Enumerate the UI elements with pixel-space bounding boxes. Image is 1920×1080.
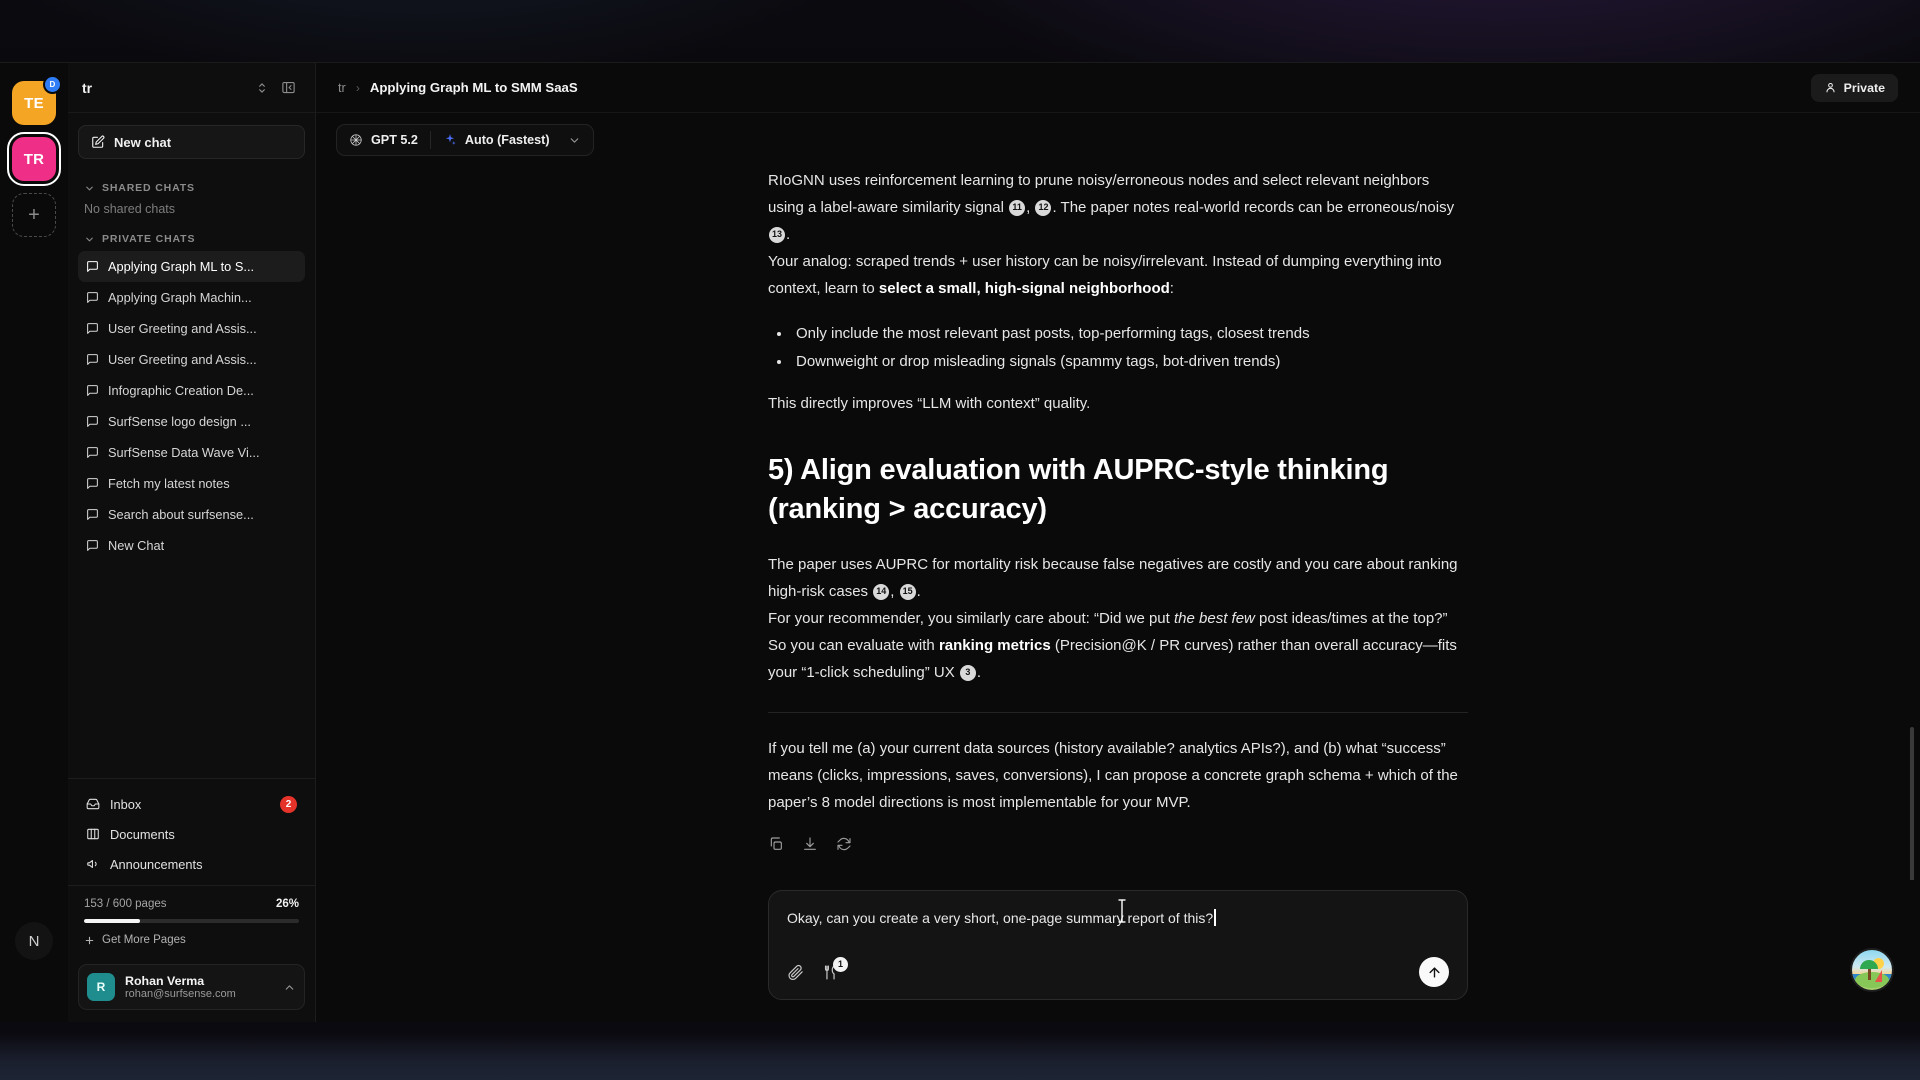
chat-bubble-icon (86, 539, 99, 552)
sidebar-item-announcements[interactable]: Announcements (78, 849, 305, 879)
breadcrumb-separator-icon: › (356, 81, 360, 95)
chat-list-item[interactable]: Search about surfsense... (78, 499, 305, 530)
citation-chip[interactable]: 11 (1009, 200, 1025, 216)
paragraph-seg-italic: the best few (1174, 610, 1255, 627)
paragraph-seg: : (1170, 280, 1174, 297)
chat-bubble-icon (86, 291, 99, 304)
sidebar-item-label: Inbox (110, 797, 141, 812)
sidebar-item-label: Documents (110, 827, 175, 842)
sidebar: tr New chat (68, 63, 316, 1022)
workspace-avatar-initials: TR (24, 151, 45, 168)
divider (768, 712, 1468, 713)
paragraph-seg: . (977, 664, 981, 681)
composer-input[interactable]: Okay, can you create a very short, one-p… (787, 907, 1216, 929)
chat-list-item[interactable]: User Greeting and Assis... (78, 313, 305, 344)
chat-bubble-icon (86, 384, 99, 397)
chat-list-item-label: Fetch my latest notes (108, 476, 230, 491)
get-more-pages-label: Get More Pages (102, 934, 186, 946)
paragraph-seg: For your recommender, you similarly care… (768, 610, 1174, 627)
model-logo-icon (349, 133, 363, 147)
usage-progress-track (84, 919, 299, 923)
citation-chip[interactable]: 12 (1035, 200, 1051, 216)
avatar-island (1855, 972, 1889, 988)
new-chat-button[interactable]: New chat (78, 125, 305, 159)
sidebar-nav: Inbox 2 Documents Announcements (68, 778, 315, 885)
download-icon[interactable] (802, 836, 818, 852)
workspace-avatar-te[interactable]: TE D (12, 81, 56, 125)
message-actions (768, 836, 1468, 852)
chat-list-item-label: Infographic Creation De... (108, 383, 254, 398)
island-avatar[interactable] (1850, 948, 1894, 992)
paragraph-seg: , (1026, 199, 1034, 216)
usage-percent: 26% (276, 898, 299, 910)
shared-chats-empty-note: No shared chats (78, 200, 305, 224)
paragraph-text: Your analog: scraped trends + user histo… (768, 248, 1468, 302)
mode-segment[interactable]: Auto (Fastest) (431, 125, 593, 155)
chat-list-item[interactable]: Fetch my latest notes (78, 468, 305, 499)
inbox-icon (86, 797, 100, 811)
workspace-avatar-badge: D (43, 75, 62, 94)
paragraph: The paper uses AUPRC for mortality risk … (768, 551, 1468, 686)
paragraph-text: RIoGNN uses reinforcement learning to pr… (768, 167, 1468, 248)
workspace-avatar-tr[interactable]: TR (12, 137, 56, 181)
documents-icon (86, 827, 100, 841)
privacy-toggle[interactable]: Private (1811, 74, 1898, 102)
citation-chip[interactable]: 14 (873, 584, 889, 600)
chat-bubble-icon (86, 415, 99, 428)
avatar-initial: R (97, 980, 106, 994)
plus-icon (84, 935, 95, 946)
avatar: R (87, 973, 115, 1001)
send-button[interactable] (1419, 957, 1449, 987)
model-segment[interactable]: GPT 5.2 (337, 125, 430, 155)
conversation-scroll[interactable]: RIoGNN uses reinforcement learning to pr… (316, 167, 1920, 880)
chat-list-item-label: SurfSense logo design ... (108, 414, 251, 429)
rail-bottom-avatar[interactable]: N (15, 922, 53, 960)
chat-list-item-label: Applying Graph Machin... (108, 290, 252, 305)
paragraph-seg: , (890, 583, 898, 600)
paragraph-text: The paper uses AUPRC for mortality risk … (768, 551, 1468, 605)
bullet-list: Only include the most relevant past post… (792, 320, 1468, 376)
chat-list-item[interactable]: New Chat (78, 530, 305, 561)
usage-label: 153 / 600 pages (84, 898, 167, 910)
assistant-message: RIoGNN uses reinforcement learning to pr… (768, 167, 1468, 880)
chat-list-item-label: User Greeting and Assis... (108, 321, 257, 336)
privacy-label: Private (1844, 81, 1885, 95)
paragraph-seg: The paper uses AUPRC for mortality risk … (768, 556, 1458, 600)
app-window: TE D TR + N tr (0, 62, 1920, 1022)
top-bar: tr › Applying Graph ML to SMM SaaS Priva… (316, 63, 1920, 113)
chevron-down-icon (84, 234, 95, 245)
tools-icon[interactable]: 1 (822, 964, 839, 981)
mode-label: Auto (Fastest) (465, 133, 550, 147)
usage-meter: 153 / 600 pages 26% Get More Pages (68, 885, 315, 956)
new-chat-label: New chat (114, 135, 171, 150)
citation-chip[interactable]: 3 (960, 665, 976, 681)
get-more-pages-button[interactable]: Get More Pages (84, 934, 299, 946)
compose-icon (91, 135, 105, 149)
chat-bubble-icon (86, 446, 99, 459)
chat-bubble-icon (86, 508, 99, 521)
sparkle-icon (443, 133, 457, 147)
group-header-private-chats[interactable]: PRIVATE CHATS (78, 224, 305, 251)
sidebar-item-documents[interactable]: Documents (78, 819, 305, 849)
sidebar-header: tr (68, 63, 315, 113)
breadcrumb-current: Applying Graph ML to SMM SaaS (370, 80, 578, 95)
model-selector[interactable]: GPT 5.2 Auto (Fastest) (336, 124, 594, 156)
announcements-icon (86, 857, 100, 871)
group-header-shared-chats[interactable]: SHARED CHATS (78, 173, 305, 200)
paragraph-text: For your recommender, you similarly care… (768, 605, 1468, 632)
text-caret (1214, 909, 1216, 926)
breadcrumb: tr › Applying Graph ML to SMM SaaS (338, 80, 1811, 95)
chevron-down-icon (84, 183, 95, 194)
chat-bubble-icon (86, 322, 99, 335)
breadcrumb-root[interactable]: tr (338, 80, 346, 95)
chat-list-item-label: Search about surfsense... (108, 507, 254, 522)
sidebar-item-inbox[interactable]: Inbox 2 (78, 789, 305, 819)
collapse-sidebar-icon[interactable] (275, 75, 301, 101)
chat-list-item[interactable]: User Greeting and Assis... (78, 344, 305, 375)
chat-list-item[interactable]: SurfSense Data Wave Vi... (78, 437, 305, 468)
user-profile-text: Rohan Verma rohan@surfsense.com (125, 974, 273, 1000)
paragraph-seg-bold: select a small, high-signal neighborhood (879, 280, 1170, 297)
plus-icon: + (28, 204, 40, 227)
chat-bubble-icon (86, 353, 99, 366)
chat-list-item[interactable]: Applying Graph Machin... (78, 282, 305, 313)
ibeam-cursor (1117, 898, 1127, 924)
paragraph-seg: . (917, 583, 921, 600)
composer-toolbar: 1 (787, 957, 1449, 987)
paperclip-icon[interactable] (787, 964, 804, 981)
regenerate-icon[interactable] (836, 836, 852, 852)
main-pane: tr › Applying Graph ML to SMM SaaS Priva… (316, 63, 1920, 1022)
composer-value: Okay, can you create a very short, one-p… (787, 910, 1213, 926)
user-profile-button[interactable]: R Rohan Verma rohan@surfsense.com (78, 964, 305, 1010)
chat-list-item-label: User Greeting and Assis... (108, 352, 257, 367)
workspace-switcher-icon[interactable] (249, 75, 275, 101)
sidebar-scroll-area: New chat SHARED CHATS No shared chats PR… (68, 113, 315, 778)
section-heading: 5) Align evaluation with AUPRC-style thi… (768, 451, 1468, 529)
chat-list-item-label: SurfSense Data Wave Vi... (108, 445, 260, 460)
sidebar-item-label: Announcements (110, 857, 202, 872)
tools-badge: 1 (833, 957, 848, 972)
usage-row: 153 / 600 pages 26% (84, 898, 299, 910)
group-title-label: SHARED CHATS (102, 182, 195, 194)
chevron-up-icon[interactable] (283, 981, 296, 994)
usage-progress-fill (84, 919, 140, 923)
chat-list-item[interactable]: Infographic Creation De... (78, 375, 305, 406)
user-name: Rohan Verma (125, 974, 273, 988)
after-bullets-text: This directly improves “LLM with context… (768, 390, 1468, 417)
avatar-sailboat (1875, 970, 1882, 982)
group-title-label: PRIVATE CHATS (102, 233, 195, 245)
person-icon (1824, 81, 1837, 94)
rail-bottom-avatar-initial: N (29, 933, 40, 950)
inbox-badge: 2 (280, 796, 297, 813)
model-label: GPT 5.2 (371, 133, 418, 147)
paragraph-seg: . (786, 226, 790, 243)
conversation-scrollbar[interactable] (1910, 727, 1914, 880)
list-item: Downweight or drop misleading signals (s… (792, 348, 1468, 376)
chat-bubble-icon (86, 260, 99, 273)
user-email: rohan@surfsense.com (125, 988, 273, 1000)
paragraph-seg: So you can evaluate with (768, 637, 939, 654)
add-workspace-button[interactable]: + (12, 193, 56, 237)
citation-chip[interactable]: 13 (769, 227, 785, 243)
desktop-backdrop: TE D TR + N tr (0, 0, 1920, 1080)
citation-chip[interactable]: 15 (900, 584, 916, 600)
composer-zone: Okay, can you create a very short, one-p… (316, 880, 1920, 1022)
workspace-avatar-initials: TE (24, 95, 44, 112)
list-item: Only include the most relevant past post… (792, 320, 1468, 348)
composer[interactable]: Okay, can you create a very short, one-p… (768, 890, 1468, 1000)
copy-icon[interactable] (768, 836, 784, 852)
chat-list-item[interactable]: Applying Graph ML to S... (78, 251, 305, 282)
chat-list-item[interactable]: SurfSense logo design ... (78, 406, 305, 437)
paragraph-seg-bold: ranking metrics (939, 637, 1051, 654)
paragraph-seg: post ideas/times at the top?” (1255, 610, 1448, 627)
closing-text: If you tell me (a) your current data sou… (768, 735, 1468, 816)
chat-list-item-label: Applying Graph ML to S... (108, 259, 254, 274)
chat-list-item-label: New Chat (108, 538, 164, 553)
workspace-rail: TE D TR + N (0, 63, 68, 1022)
paragraph: RIoGNN uses reinforcement learning to pr… (768, 167, 1468, 302)
paragraph-seg: . The paper notes real-world records can… (1052, 199, 1454, 216)
model-bar: GPT 5.2 Auto (Fastest) (316, 113, 1920, 167)
paragraph-text: So you can evaluate with ranking metrics… (768, 632, 1468, 686)
workspace-name[interactable]: tr (82, 80, 249, 96)
chevron-down-icon[interactable] (568, 134, 581, 147)
chat-bubble-icon (86, 477, 99, 490)
